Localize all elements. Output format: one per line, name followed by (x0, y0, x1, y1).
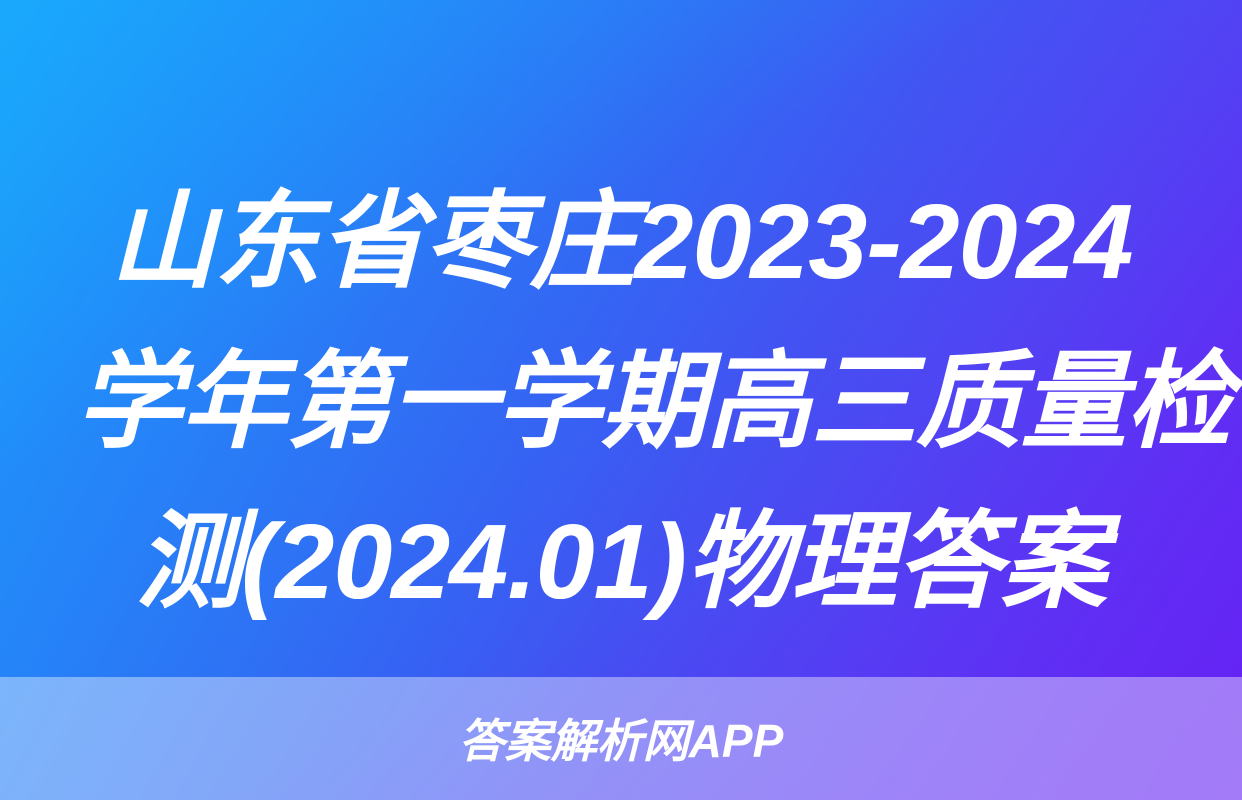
title-card: 山东省枣庄2023-2024 学年第一学期高三质量检 测(2024.01)物理答… (0, 0, 1242, 800)
title-block: 山东省枣庄2023-2024 学年第一学期高三质量检 测(2024.01)物理答… (0, 182, 1242, 622)
watermark-label: 答案解析网APP (459, 718, 784, 764)
page-title-line-1: 山东省枣庄2023-2024 (76, 182, 1166, 302)
footer-watermark-band: 答案解析网APP (0, 677, 1242, 800)
page-title-line-2: 学年第一学期高三质量检 (76, 342, 1166, 462)
page-title-line-3: 测(2024.01)物理答案 (76, 502, 1166, 622)
